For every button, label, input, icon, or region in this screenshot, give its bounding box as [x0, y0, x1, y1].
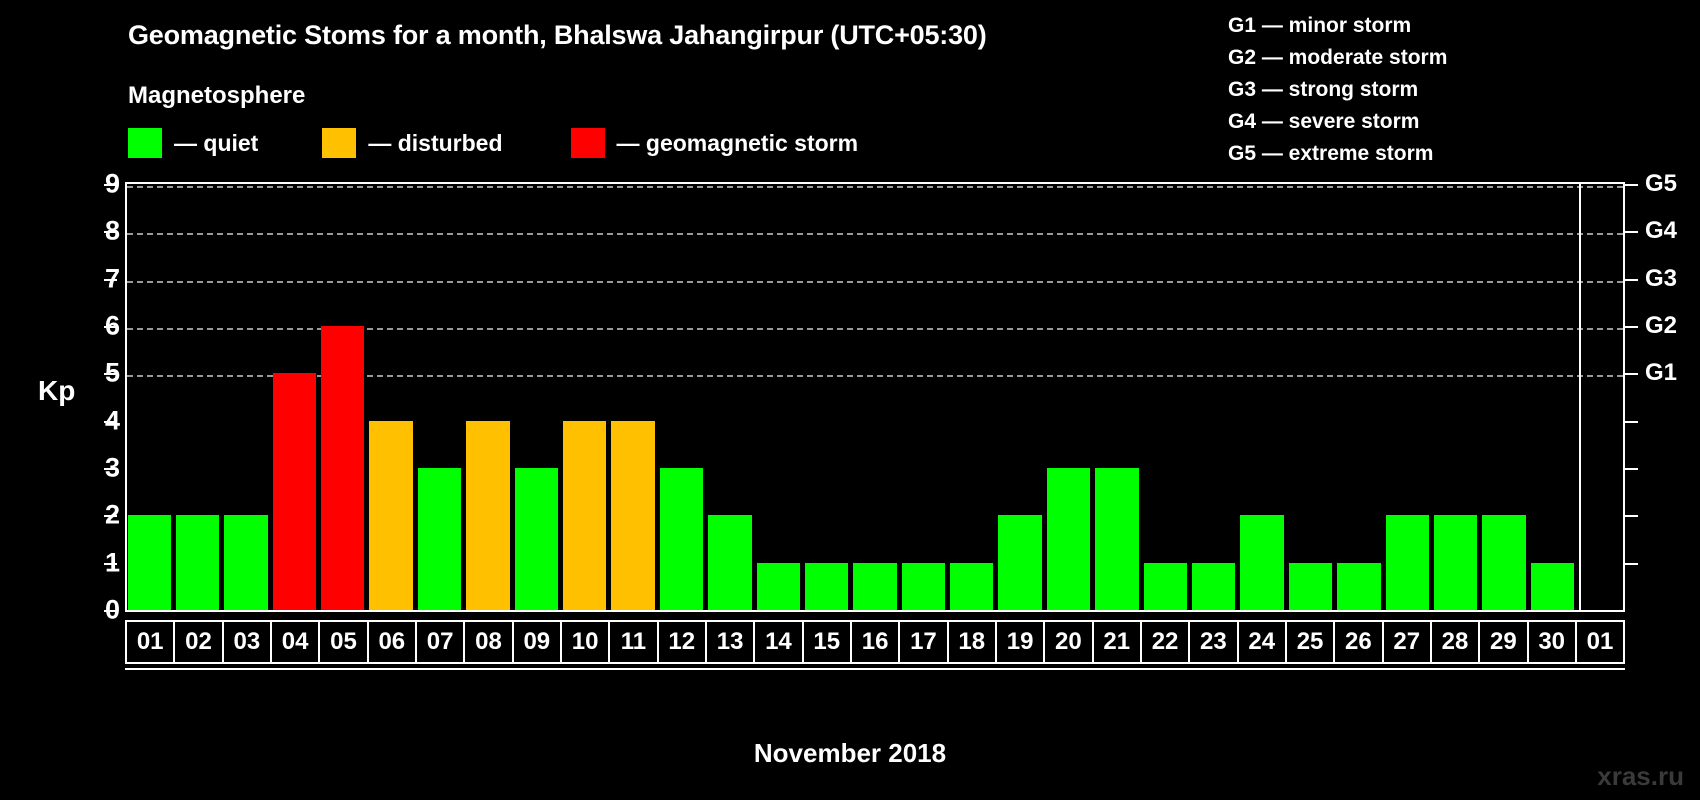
g-tick-mark — [1625, 326, 1638, 328]
date-cell[interactable]: 27 — [1384, 622, 1432, 662]
date-cell[interactable]: 09 — [514, 622, 562, 662]
bar-12[interactable] — [660, 468, 703, 610]
g-tick-mark — [1625, 184, 1638, 186]
bars-container — [125, 182, 1625, 612]
bar-27[interactable] — [1386, 515, 1429, 610]
gscale-legend-item-g5: G5 — extreme storm — [1228, 138, 1447, 170]
bar-13[interactable] — [708, 515, 751, 610]
bar-09[interactable] — [515, 468, 558, 610]
magnetosphere-legend: — quiet — disturbed — geomagnetic storm — [128, 128, 858, 158]
y-tick-label: 4 — [86, 405, 120, 436]
watermark: xras.ru — [1597, 761, 1684, 792]
legend-item-disturbed: — disturbed — [322, 128, 502, 158]
x-axis-label-text: November 2018 — [754, 738, 946, 769]
y-tick-label: 6 — [86, 311, 120, 342]
legend-swatch-storm-icon — [571, 128, 605, 158]
date-cell[interactable]: 08 — [465, 622, 513, 662]
date-cell[interactable]: 25 — [1287, 622, 1335, 662]
y-tick-label: 8 — [86, 216, 120, 247]
date-cell[interactable]: 14 — [755, 622, 803, 662]
date-cell[interactable]: 06 — [369, 622, 417, 662]
date-cell[interactable]: 21 — [1094, 622, 1142, 662]
gscale-legend-item-g2: G2 — moderate storm — [1228, 42, 1447, 74]
g-tick-label: G2 — [1645, 312, 1677, 340]
gscale-legend: G1 — minor storm G2 — moderate storm G3 … — [1228, 10, 1447, 170]
date-cell[interactable]: 12 — [659, 622, 707, 662]
date-cell[interactable]: 10 — [562, 622, 610, 662]
bar-24[interactable] — [1240, 515, 1283, 610]
date-cell[interactable]: 24 — [1239, 622, 1287, 662]
date-cell[interactable]: 15 — [804, 622, 852, 662]
y-tick-label: 7 — [86, 263, 120, 294]
date-cell[interactable]: 02 — [175, 622, 223, 662]
y-tick-label: 1 — [86, 547, 120, 578]
date-cell[interactable]: 03 — [224, 622, 272, 662]
bar-26[interactable] — [1337, 563, 1380, 610]
date-cell[interactable]: 19 — [997, 622, 1045, 662]
bar-05[interactable] — [321, 326, 364, 610]
date-cell[interactable]: 29 — [1480, 622, 1528, 662]
g-scale-axis: G1G2G3G4G5 — [1625, 182, 1700, 612]
legend-label-disturbed: — disturbed — [368, 130, 502, 157]
date-cell[interactable]: 13 — [707, 622, 755, 662]
date-cell[interactable]: 04 — [272, 622, 320, 662]
bar-15[interactable] — [805, 563, 848, 610]
date-cell[interactable]: 16 — [852, 622, 900, 662]
bar-07[interactable] — [418, 468, 461, 610]
g-tick-mark-minor — [1625, 421, 1638, 423]
bar-23[interactable] — [1192, 563, 1235, 610]
date-cell[interactable]: 20 — [1045, 622, 1093, 662]
g-tick-label: G5 — [1645, 170, 1677, 198]
bar-28[interactable] — [1434, 515, 1477, 610]
date-cell[interactable]: 23 — [1190, 622, 1238, 662]
date-cell[interactable]: 07 — [417, 622, 465, 662]
x-axis-baseline — [125, 668, 1625, 670]
bar-21[interactable] — [1095, 468, 1138, 610]
g-tick-label: G1 — [1645, 359, 1677, 387]
bar-01[interactable] — [128, 515, 171, 610]
date-cell[interactable]: 18 — [949, 622, 997, 662]
g-tick-label: G3 — [1645, 265, 1677, 293]
legend-item-geomagnetic-storm: — geomagnetic storm — [571, 128, 859, 158]
bar-02[interactable] — [176, 515, 219, 610]
bar-06[interactable] — [369, 421, 412, 610]
bar-30[interactable] — [1531, 563, 1574, 610]
date-cell[interactable]: 17 — [900, 622, 948, 662]
bar-17[interactable] — [902, 563, 945, 610]
g-tick-mark-minor — [1625, 515, 1638, 517]
date-cell[interactable]: 26 — [1335, 622, 1383, 662]
date-cell[interactable]: 30 — [1529, 622, 1577, 662]
legend-label-quiet: — quiet — [174, 130, 258, 157]
bar-20[interactable] — [1047, 468, 1090, 610]
g-tick-mark — [1625, 279, 1638, 281]
x-axis-date-cells: 0102030405060708091011121314151617181920… — [125, 620, 1625, 664]
g-tick-mark-minor — [1625, 563, 1638, 565]
y-tick-label: 3 — [86, 453, 120, 484]
y-tick-label: 0 — [86, 595, 120, 626]
g-tick-mark — [1625, 373, 1638, 375]
gscale-legend-item-g4: G4 — severe storm — [1228, 106, 1447, 138]
x-axis-label: November 2018 — [0, 738, 1700, 769]
bar-22[interactable] — [1144, 563, 1187, 610]
date-cell[interactable]: 28 — [1432, 622, 1480, 662]
y-tick-label: 5 — [86, 358, 120, 389]
legend-swatch-disturbed-icon — [322, 128, 356, 158]
y-tick-label: 2 — [86, 500, 120, 531]
g-tick-label: G4 — [1645, 217, 1677, 245]
legend-label-geomagnetic-storm: — geomagnetic storm — [617, 130, 859, 157]
magnetosphere-legend-title: Magnetosphere — [128, 82, 305, 110]
bar-04[interactable] — [273, 373, 316, 610]
bar-29[interactable] — [1482, 515, 1525, 610]
legend-item-quiet: — quiet — [128, 128, 258, 158]
y-axis-ticks: 0123456789 — [60, 182, 120, 612]
bar-03[interactable] — [224, 515, 267, 610]
date-cell[interactable]: 22 — [1142, 622, 1190, 662]
legend-swatch-quiet-icon — [128, 128, 162, 158]
bar-19[interactable] — [998, 515, 1041, 610]
g-tick-mark — [1625, 231, 1638, 233]
date-cell[interactable]: 05 — [320, 622, 368, 662]
bar-14[interactable] — [757, 563, 800, 610]
gscale-legend-item-g1: G1 — minor storm — [1228, 10, 1447, 42]
bar-08[interactable] — [466, 421, 509, 610]
gscale-legend-item-g3: G3 — strong storm — [1228, 74, 1447, 106]
bar-25[interactable] — [1289, 563, 1332, 610]
bar-11[interactable] — [611, 421, 654, 610]
date-cell[interactable]: 01 — [127, 622, 175, 662]
bar-16[interactable] — [853, 563, 896, 610]
y-tick-label: 9 — [86, 169, 120, 200]
date-cell[interactable]: 11 — [610, 622, 658, 662]
page-title: Geomagnetic Stoms for a month, Bhalswa J… — [128, 20, 987, 51]
bar-18[interactable] — [950, 563, 993, 610]
g-tick-mark-minor — [1625, 468, 1638, 470]
bar-10[interactable] — [563, 421, 606, 610]
date-cell[interactable]: 01 — [1577, 622, 1623, 662]
